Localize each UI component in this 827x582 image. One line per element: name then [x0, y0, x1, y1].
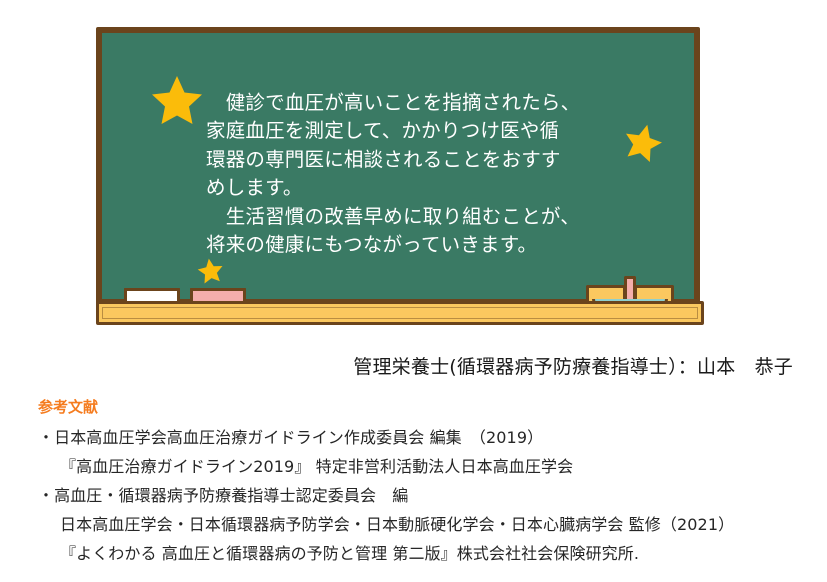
reference-line: ・高血圧・循環器病予防療養指導士認定委員会 編 — [38, 481, 798, 510]
reference-line: 『高血圧治療ガイドライン2019』 特定非営利活動法人日本高血圧学会 — [38, 452, 798, 481]
star-icon — [623, 122, 663, 162]
chalkboard-surface: 健診で血圧が高いことを指摘されたら、 家庭血圧を測定して、かかりつけ医や循 環器… — [102, 33, 694, 299]
chalk-tray-inner-line — [102, 307, 698, 319]
reference-line: 『よくわかる 高血圧と循環器病の予防と管理 第二版』株式会社社会保険研究所. — [38, 539, 798, 568]
white-chalk — [124, 288, 180, 301]
chalk-tray — [96, 301, 704, 325]
chalkboard: 健診で血圧が高いことを指摘されたら、 家庭血圧を測定して、かかりつけ医や循 環器… — [96, 27, 704, 329]
references-heading: 参考文献 — [38, 396, 798, 418]
star-icon — [150, 73, 204, 127]
pink-chalk — [190, 288, 246, 301]
chalkboard-message: 健診で血圧が高いことを指摘されたら、 家庭血圧を測定して、かかりつけ医や循 環器… — [206, 89, 626, 259]
author-credit: 管理栄養士(循環器病予防療養指導士）：山本 恭子 — [0, 352, 793, 379]
chalkboard-frame: 健診で血圧が高いことを指摘されたら、 家庭血圧を測定して、かかりつけ医や循 環器… — [96, 27, 700, 305]
star-icon — [197, 257, 224, 284]
reference-line: ・日本高血圧学会高血圧治療ガイドライン作成委員会 編集 （2019） — [38, 423, 798, 452]
references-section: 参考文献 ・日本高血圧学会高血圧治療ガイドライン作成委員会 編集 （2019） … — [38, 396, 798, 568]
eraser-handle — [624, 276, 636, 301]
reference-line: 日本高血圧学会・日本循環器病予防学会・日本動脈硬化学会・日本心臓病学会 監修（2… — [38, 510, 798, 539]
